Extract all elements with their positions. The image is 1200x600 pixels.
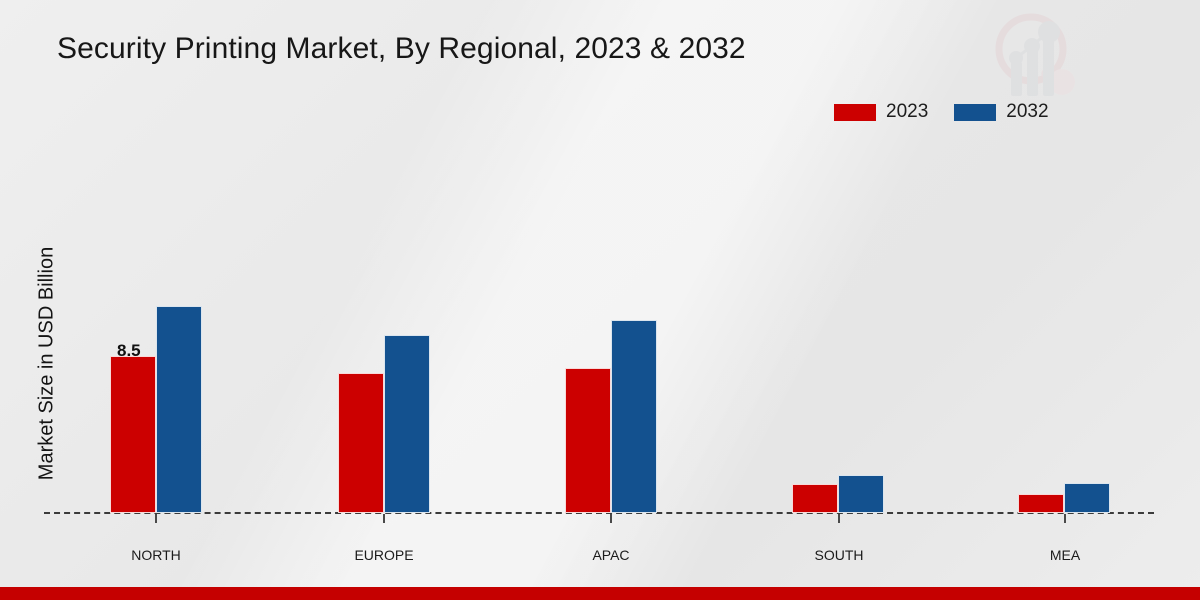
category-label-line1: NORTH bbox=[131, 547, 181, 563]
axis-tick-europe bbox=[383, 514, 385, 523]
bar-2032-south-america[interactable] bbox=[838, 475, 884, 513]
bar-2032-mea[interactable] bbox=[1064, 483, 1110, 513]
bar-2023-europe[interactable] bbox=[338, 373, 384, 513]
bar-2023-apac[interactable] bbox=[565, 368, 611, 513]
footer-accent-band bbox=[0, 587, 1200, 600]
category-label-europe: EUROPE bbox=[304, 527, 464, 565]
category-label-apac: APAC bbox=[531, 527, 691, 565]
axis-tick-mea bbox=[1064, 514, 1066, 523]
bar-2023-north-america[interactable] bbox=[110, 356, 156, 513]
axis-tick-north-america bbox=[155, 514, 157, 523]
bar-value-label-north-america-2023: 8.5 bbox=[117, 341, 141, 361]
category-label-line1: SOUTH bbox=[815, 547, 864, 563]
axis-tick-south-america bbox=[838, 514, 840, 523]
chart-figure: Security Printing Market, By Regional, 2… bbox=[0, 0, 1200, 600]
bar-2032-north-america[interactable] bbox=[156, 306, 202, 513]
axis-tick-apac bbox=[610, 514, 612, 523]
category-label-line1: EUROPE bbox=[354, 547, 413, 563]
bar-2032-apac[interactable] bbox=[611, 320, 657, 513]
category-label-mea: MEA bbox=[985, 527, 1145, 565]
plot-area: 8.5 NORTH AMERICA EUROPE APAC SOUTH AMER… bbox=[0, 0, 1200, 600]
bar-2032-europe[interactable] bbox=[384, 335, 430, 513]
bar-2023-mea[interactable] bbox=[1018, 494, 1064, 513]
category-label-line1: APAC bbox=[592, 547, 629, 563]
category-label-line1: MEA bbox=[1050, 547, 1080, 563]
bar-2023-south-america[interactable] bbox=[792, 484, 838, 513]
